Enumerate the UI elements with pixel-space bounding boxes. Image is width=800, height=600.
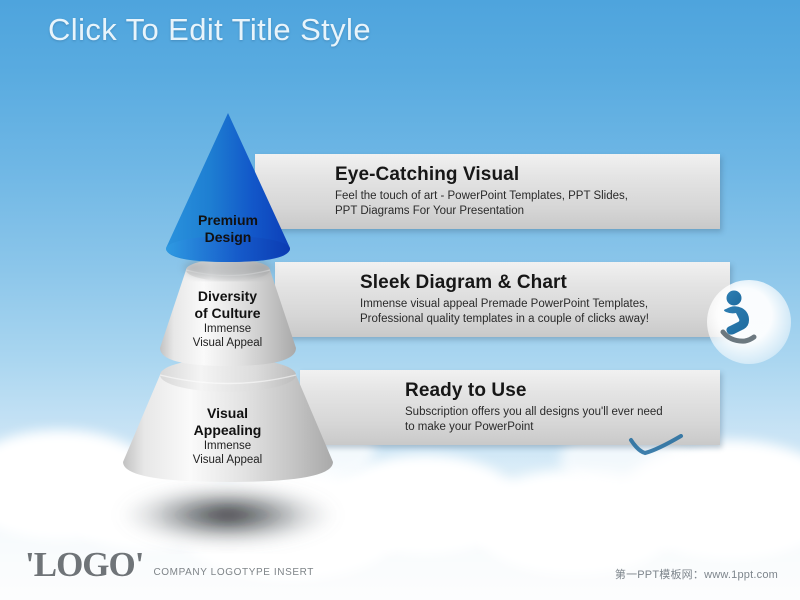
tier-title-line-2: Appealing [140,422,315,439]
tier-sub-line-2: Visual Appeal [145,336,310,350]
banner-line-1: Immense visual appeal Premade PowerPoint… [360,297,649,312]
pyramid-label-bottom: Visual Appealing Immense Visual Appeal [140,405,315,467]
logo-caption: COMPANY LOGOTYPE INSERT [153,567,314,578]
cloud-shape [0,430,160,540]
footer-logo: 'LOGO' COMPANY LOGOTYPE INSERT [25,548,314,582]
seated-person-icon [712,285,786,359]
banner-line-1: Feel the touch of art - PowerPoint Templ… [335,189,628,204]
tier-title-line-1: Visual [140,405,315,422]
banner-sleek-diagram-chart[interactable]: Sleek Diagram & Chart Immense visual app… [275,262,730,337]
cloud-shape [60,455,230,550]
tier-sub-line-1: Immense [140,439,315,453]
banner-line-2: to make your PowerPoint [405,420,663,435]
banner-line-2: PPT Diagrams For Your Presentation [335,204,628,219]
banner-text-block: Ready to Use Subscription offers you all… [405,380,663,435]
watermark-text: 第一PPT模板网：www.1ppt.com [615,566,778,582]
banner-heading: Eye-Catching Visual [335,164,628,186]
banner-line-1: Subscription offers you all designs you'… [405,405,663,420]
logo-text: 'LOGO' [25,548,143,582]
check-swoosh-icon [628,434,684,460]
banner-text-block: Eye-Catching Visual Feel the touch of ar… [335,164,628,219]
banner-heading: Ready to Use [405,380,663,402]
tier-title-line-2: Design [148,229,308,246]
cloud-shape [470,470,680,575]
banner-text-block: Sleek Diagram & Chart Immense visual app… [360,272,649,327]
banner-line-2: Professional quality templates in a coup… [360,312,649,327]
cloud-shape [330,455,520,555]
slide-canvas: Click To Edit Title Style Eye-Catching V… [0,0,800,600]
banner-heading: Sleek Diagram & Chart [360,272,649,294]
page-title: Click To Edit Title Style [48,12,371,48]
tier-sub-line-2: Visual Appeal [140,453,315,467]
banner-eye-catching-visual[interactable]: Eye-Catching Visual Feel the touch of ar… [255,154,720,229]
